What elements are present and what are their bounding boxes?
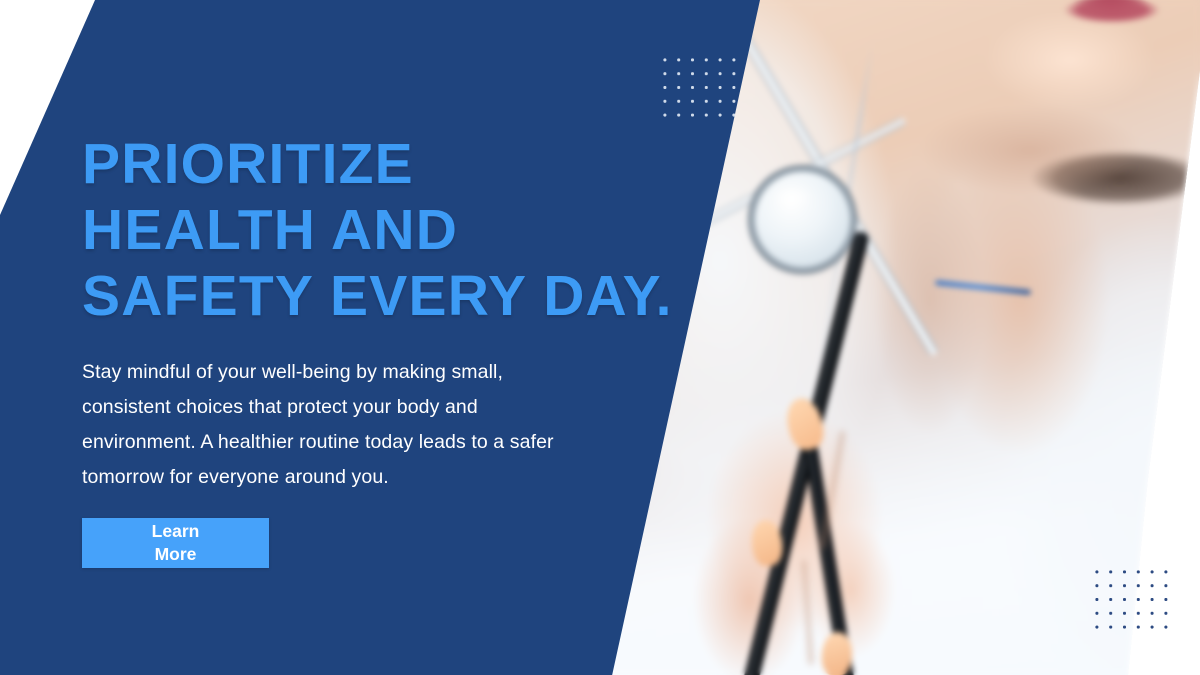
learn-more-button[interactable]: Learn More [82,518,269,568]
dot-grid-icon-bottom [1089,564,1174,636]
banner-content: Prioritize Health and Safety every day. … [82,0,682,675]
page-title: Prioritize Health and Safety every day. [82,131,682,329]
health-safety-banner: Prioritize Health and Safety every day. … [0,0,1200,675]
banner-description: Stay mindful of your well-being by makin… [82,355,582,495]
